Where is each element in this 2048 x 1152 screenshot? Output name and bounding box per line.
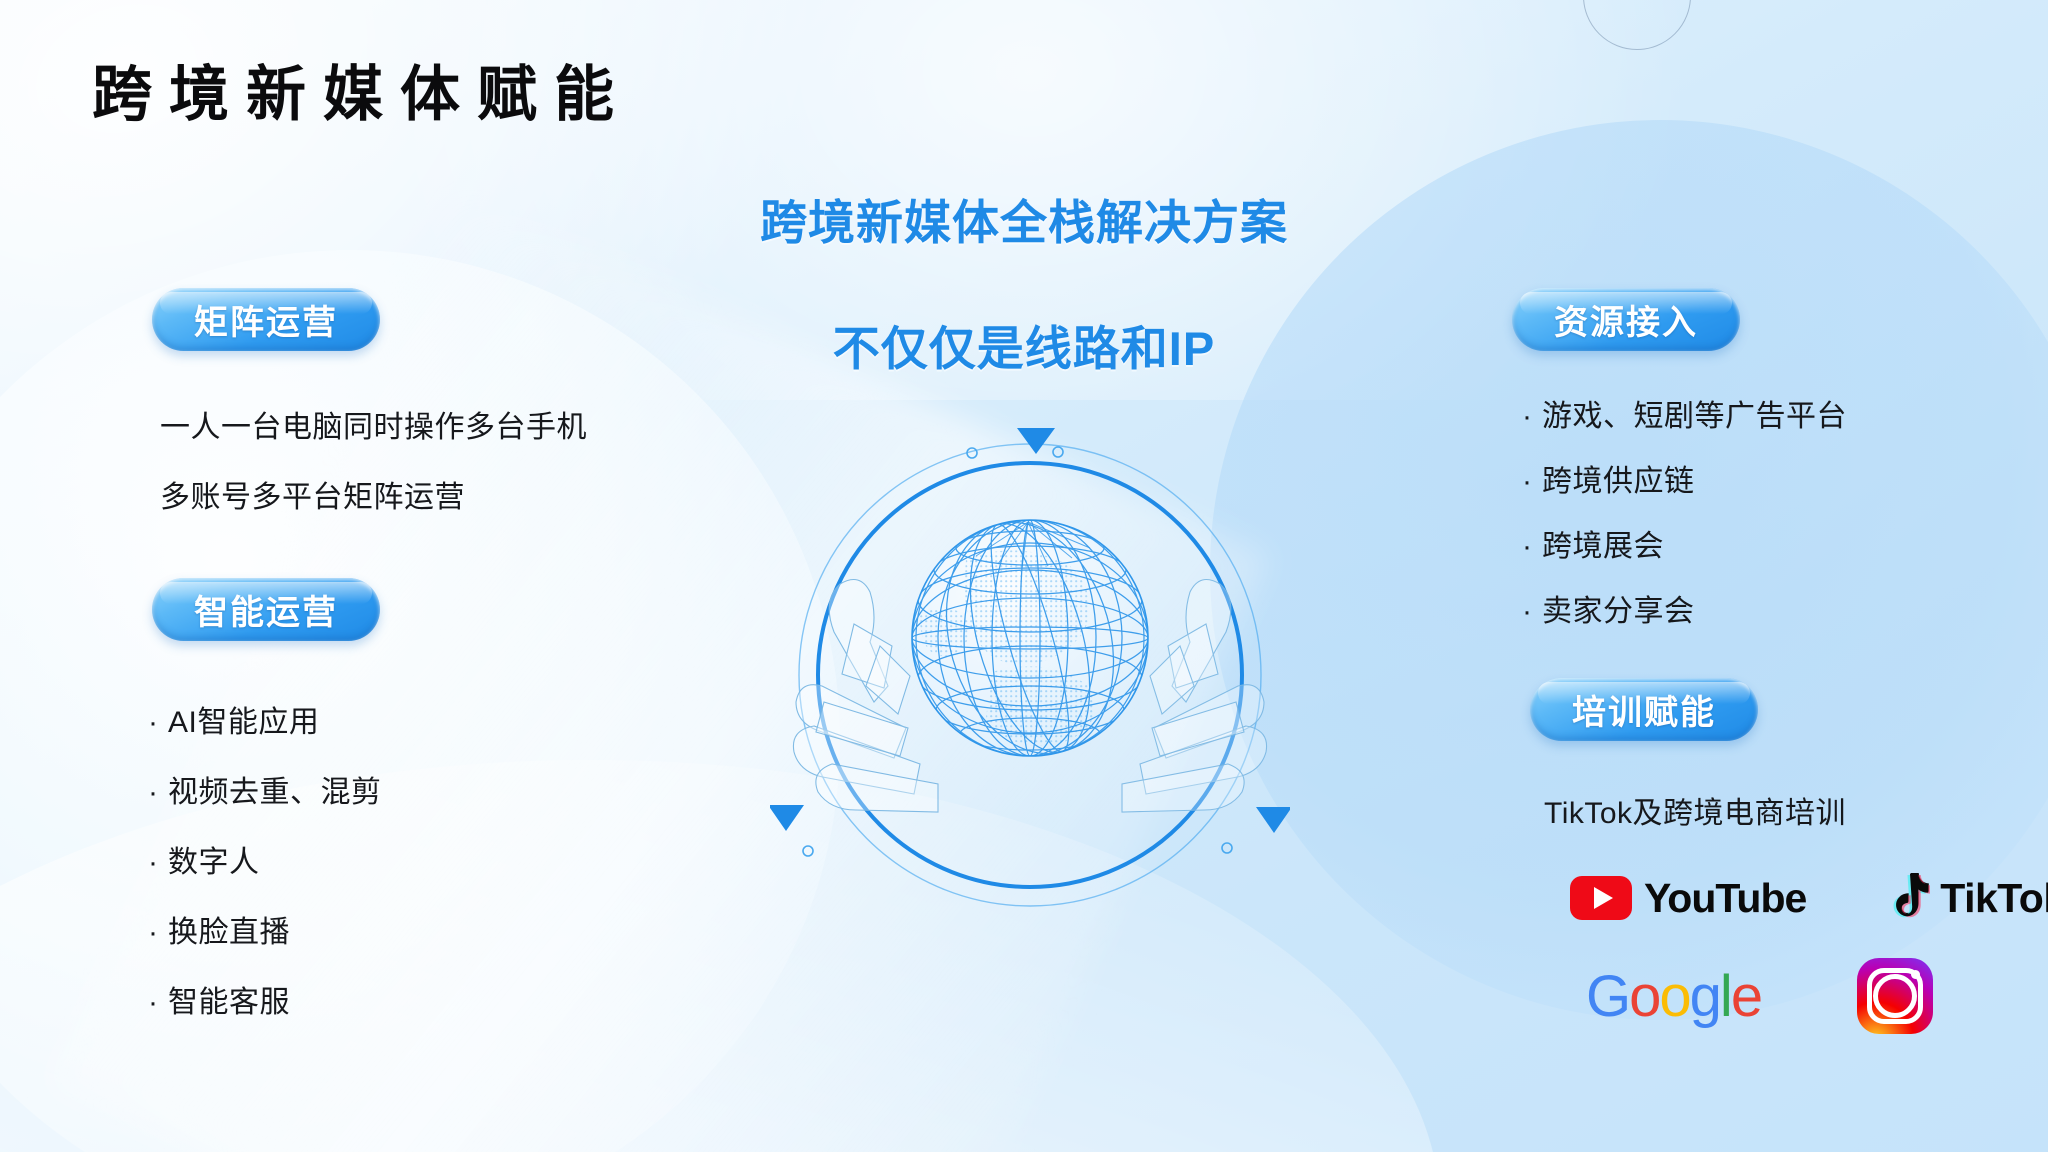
background-circle-left	[0, 250, 840, 1152]
left-smart-item-4: ·换脸直播	[148, 907, 290, 951]
left-smart-item-1: ·AI智能应用	[148, 697, 319, 741]
right-resource-item-4-label: 卖家分享会	[1542, 595, 1695, 628]
left-matrix-item-2: 多账号多平台矩阵运营	[160, 472, 465, 516]
bullet-dot-icon: ·	[148, 986, 168, 1020]
bullet-dot-icon: ·	[1522, 400, 1542, 434]
youtube-label: YouTube	[1644, 875, 1806, 922]
instagram-dot-icon	[1911, 970, 1920, 979]
bullet-dot-icon: ·	[1522, 465, 1542, 499]
pill-matrix-operations[interactable]: 矩阵运营	[152, 288, 380, 351]
bullet-dot-icon: ·	[148, 776, 168, 810]
left-smart-item-3-label: 数字人	[168, 846, 260, 879]
right-resource-item-3-label: 跨境展会	[1542, 530, 1664, 563]
left-smart-item-4-label: 换脸直播	[168, 916, 290, 949]
left-smart-item-2: ·视频去重、混剪	[148, 767, 382, 811]
tiktok-logo[interactable]: TikTok	[1884, 872, 2048, 924]
bullet-dot-icon: ·	[1522, 530, 1542, 564]
globe-in-hands-graphic	[770, 410, 1290, 940]
bullet-dot-icon: ·	[148, 846, 168, 880]
instagram-lens-icon	[1873, 974, 1917, 1018]
left-smart-item-1-label: AI智能应用	[168, 706, 319, 739]
right-resource-item-1-label: 游戏、短剧等广告平台	[1542, 400, 1847, 433]
decorative-outline-circle	[1583, 0, 1691, 50]
tiktok-label: TikTok	[1940, 875, 2048, 922]
right-training-item-1: TikTok及跨境电商培训	[1544, 788, 1846, 832]
logo-row-2: Google	[1586, 958, 1933, 1034]
pill-training-enablement[interactable]: 培训赋能	[1530, 678, 1758, 741]
bullet-dot-icon: ·	[1522, 595, 1542, 629]
right-resource-item-2-label: 跨境供应链	[1542, 465, 1695, 498]
pill-smart-operations[interactable]: 智能运营	[152, 578, 380, 641]
right-resource-item-1: ·游戏、短剧等广告平台	[1522, 391, 1847, 435]
right-resource-item-3: ·跨境展会	[1522, 521, 1664, 565]
center-heading-line-1: 跨境新媒体全栈解决方案	[724, 184, 1324, 253]
youtube-play-icon	[1570, 876, 1632, 920]
left-smart-item-3: ·数字人	[148, 837, 260, 881]
right-resource-item-2: ·跨境供应链	[1522, 456, 1695, 500]
youtube-logo[interactable]: YouTube	[1570, 875, 1806, 922]
left-matrix-item-1: 一人一台电脑同时操作多台手机	[160, 402, 587, 446]
logo-row-1: YouTube TikTok	[1570, 872, 2048, 924]
slide-canvas: 跨境新媒体赋能 跨境新媒体全栈解决方案 不仅仅是线路和IP	[0, 0, 2048, 1152]
google-logo[interactable]: Google	[1586, 963, 1761, 1030]
page-title: 跨境新媒体赋能	[92, 46, 631, 133]
left-smart-item-5-label: 智能客服	[168, 986, 290, 1019]
center-heading-line-2: 不仅仅是线路和IP	[724, 310, 1324, 379]
right-resource-item-4: ·卖家分享会	[1522, 586, 1695, 630]
left-smart-item-5: ·智能客服	[148, 977, 290, 1021]
left-smart-item-2-label: 视频去重、混剪	[168, 776, 382, 809]
tiktok-note-icon	[1884, 872, 1930, 924]
pill-resource-access[interactable]: 资源接入	[1512, 288, 1740, 351]
instagram-logo[interactable]	[1857, 958, 1933, 1034]
bullet-dot-icon: ·	[148, 916, 168, 950]
bullet-dot-icon: ·	[148, 706, 168, 740]
